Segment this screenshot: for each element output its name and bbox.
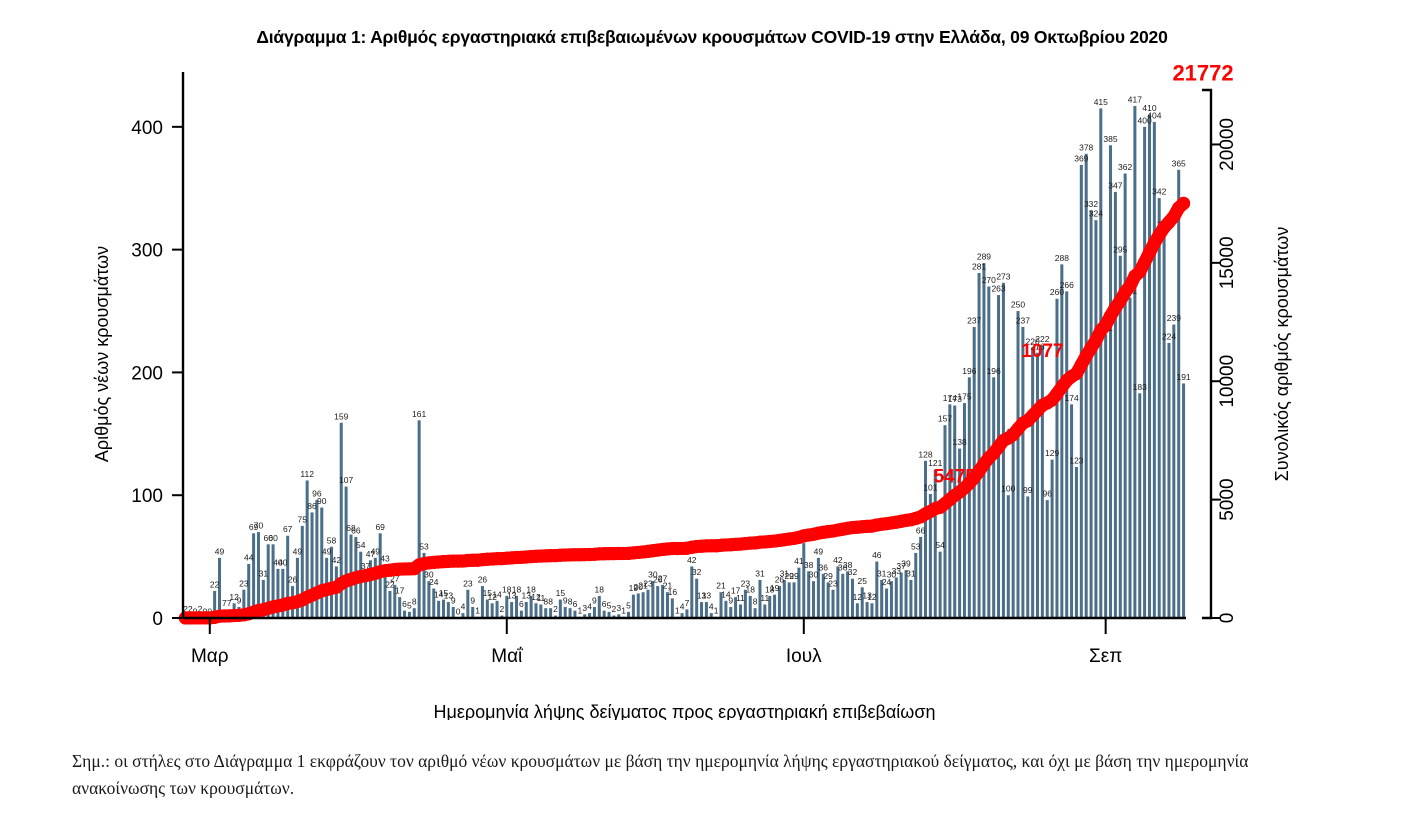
bar-label: 138 bbox=[952, 437, 966, 447]
bar bbox=[836, 566, 839, 618]
bar-label: 8 bbox=[412, 597, 417, 607]
bar-label: 9 bbox=[470, 595, 475, 605]
y-tick-label: 100 bbox=[131, 486, 163, 507]
bar bbox=[1060, 264, 1063, 618]
bar bbox=[1124, 174, 1127, 619]
bar-label: 5 bbox=[626, 600, 631, 610]
bar-label: 23 bbox=[239, 578, 249, 588]
bar-label: 49 bbox=[293, 546, 303, 556]
chart-container: 2202002249771292344697031606040406726497… bbox=[0, 60, 1424, 720]
bar bbox=[1012, 439, 1015, 618]
bar-label: 13 bbox=[702, 591, 712, 601]
bar bbox=[1065, 291, 1068, 618]
x-tick-label: Ιουλ bbox=[786, 646, 822, 667]
bar bbox=[1148, 115, 1151, 618]
bar-label: 9 bbox=[592, 595, 597, 605]
bar-label: 8 bbox=[753, 597, 758, 607]
bar bbox=[496, 601, 499, 618]
bar bbox=[783, 580, 786, 618]
bar-label: 12 bbox=[867, 592, 877, 602]
bar-label: 332 bbox=[1084, 199, 1098, 209]
bar-label: 415 bbox=[1094, 97, 1108, 107]
bar bbox=[812, 581, 815, 618]
bar-label: 18 bbox=[745, 584, 755, 594]
bar bbox=[885, 589, 888, 618]
bar bbox=[1114, 192, 1117, 618]
bar-label: 404 bbox=[1147, 110, 1161, 120]
bar bbox=[442, 600, 445, 618]
bar bbox=[1158, 198, 1161, 618]
footnote-line-1: Σημ.: οι στήλες στο Διάγραμμα 1 εκφράζου… bbox=[72, 751, 1070, 771]
bar-label: 42 bbox=[687, 555, 697, 565]
bar-label: 22 bbox=[210, 579, 220, 589]
bar-label: 99 bbox=[1023, 485, 1033, 495]
bar-label: 385 bbox=[1103, 134, 1117, 144]
bar bbox=[846, 571, 849, 618]
bar-label: 49 bbox=[371, 546, 381, 556]
bar bbox=[539, 604, 542, 618]
bar-label: 86 bbox=[307, 501, 317, 511]
bar bbox=[525, 602, 528, 618]
bar bbox=[671, 598, 674, 618]
bar-label: 32 bbox=[848, 567, 858, 577]
bar bbox=[982, 263, 985, 618]
bar bbox=[1080, 165, 1083, 618]
bar bbox=[870, 603, 873, 618]
bar bbox=[831, 590, 834, 618]
bar-label: 18 bbox=[595, 584, 605, 594]
bar-label: 112 bbox=[300, 469, 314, 479]
bar bbox=[1090, 210, 1093, 618]
bar bbox=[593, 607, 596, 618]
y-tick-label: 300 bbox=[131, 241, 163, 262]
bar bbox=[345, 487, 348, 618]
bar-label: 281 bbox=[972, 261, 986, 271]
bar bbox=[773, 595, 776, 618]
bar bbox=[788, 582, 791, 618]
bar bbox=[1075, 467, 1078, 618]
bar bbox=[749, 596, 752, 618]
bar bbox=[1007, 495, 1010, 618]
bar bbox=[452, 607, 455, 618]
bar-label: 66 bbox=[916, 525, 926, 535]
bar-label: 26 bbox=[478, 575, 488, 585]
bar bbox=[1051, 460, 1054, 618]
cumulative-annotation: 21772 bbox=[1172, 61, 1233, 86]
bar bbox=[739, 604, 742, 618]
page-title: Διάγραμμα 1: Αριθμός εργαστηριακά επιβεβ… bbox=[0, 27, 1424, 48]
y2-tick-label: 15000 bbox=[1217, 236, 1238, 289]
bar-label: 26 bbox=[288, 575, 298, 585]
bar bbox=[569, 608, 572, 618]
bar-label: 44 bbox=[244, 552, 254, 562]
bar-label: 2 bbox=[500, 604, 505, 614]
bar bbox=[1172, 325, 1175, 618]
bar-label: 60 bbox=[268, 533, 278, 543]
bar-label: 362 bbox=[1118, 162, 1132, 172]
y2-axis-line bbox=[1202, 90, 1211, 618]
bar-label: 75 bbox=[298, 514, 308, 524]
bar bbox=[963, 403, 966, 618]
bar-label: 2 bbox=[553, 604, 558, 614]
x-tick-label: Μαρ bbox=[191, 646, 229, 667]
bar-label: 31 bbox=[755, 568, 765, 578]
bar-label: 39 bbox=[901, 559, 911, 569]
bar-label: 12 bbox=[853, 592, 863, 602]
bar-label: 288 bbox=[1055, 253, 1069, 263]
bar bbox=[1026, 496, 1029, 618]
bar bbox=[685, 609, 688, 618]
bar bbox=[466, 590, 469, 618]
bar-label: 23 bbox=[463, 578, 473, 588]
bar-label: 263 bbox=[991, 284, 1005, 294]
bar-label: 347 bbox=[1108, 180, 1122, 190]
bar-label: 100 bbox=[1001, 484, 1015, 494]
bar-label: 49 bbox=[215, 546, 225, 556]
bar bbox=[1133, 106, 1136, 618]
bar bbox=[1109, 145, 1112, 618]
bar-label: 183 bbox=[1133, 382, 1147, 392]
bar-label: 123 bbox=[1069, 455, 1083, 465]
bar bbox=[992, 377, 995, 618]
bar-label: 53 bbox=[911, 541, 921, 551]
bar-label: 239 bbox=[1167, 313, 1181, 323]
bar-label: 191 bbox=[1176, 372, 1190, 382]
bar bbox=[534, 603, 537, 618]
bar-label: 342 bbox=[1152, 187, 1166, 197]
bar bbox=[1017, 311, 1020, 618]
bar-label: 157 bbox=[938, 414, 952, 424]
cumulative-annotation: 1077 bbox=[1021, 341, 1063, 362]
bar-label: 31 bbox=[906, 568, 916, 578]
bar-label: 174 bbox=[1064, 393, 1078, 403]
bar bbox=[939, 552, 942, 618]
bar-label: 31 bbox=[259, 568, 269, 578]
y-tick-label: 400 bbox=[131, 118, 163, 139]
bar bbox=[486, 600, 489, 618]
bar bbox=[705, 602, 708, 618]
bar bbox=[1104, 334, 1107, 618]
bar-label: 417 bbox=[1128, 94, 1142, 104]
bar bbox=[1070, 404, 1073, 618]
bar bbox=[1046, 500, 1049, 618]
cumulative-annotation: 5475 bbox=[934, 466, 977, 487]
bar bbox=[549, 608, 552, 618]
bar-label: 159 bbox=[334, 411, 348, 421]
bar-label: 23 bbox=[828, 578, 838, 588]
bar-label: 40 bbox=[278, 557, 288, 567]
bar-label: 4 bbox=[461, 602, 466, 612]
bar-label: 69 bbox=[375, 522, 385, 532]
bar bbox=[1129, 298, 1132, 618]
bar bbox=[447, 602, 450, 618]
bar-label: 25 bbox=[857, 576, 867, 586]
x-tick-label: Μαΐ bbox=[491, 646, 524, 667]
bar-label: 58 bbox=[327, 535, 337, 545]
bar-label: 224 bbox=[1162, 331, 1176, 341]
line-marker bbox=[1177, 197, 1190, 210]
bar-label: 11 bbox=[736, 593, 745, 603]
bar-label: 266 bbox=[1060, 280, 1074, 290]
bar bbox=[948, 404, 951, 618]
bar bbox=[296, 558, 299, 618]
y-tick-label: 200 bbox=[131, 363, 163, 384]
bar-label: 29 bbox=[789, 571, 799, 581]
bar-label: 9 bbox=[237, 595, 242, 605]
covid-cases-chart: 2202002249771292344697031606040406726497… bbox=[0, 60, 1424, 720]
bar-label: 16 bbox=[668, 587, 678, 597]
bar bbox=[388, 591, 391, 618]
y2-axis-title: Συνολικός αριθμός κρουσμάτων bbox=[1272, 227, 1292, 482]
bar bbox=[700, 602, 703, 618]
bar bbox=[559, 600, 562, 618]
bar bbox=[841, 574, 844, 618]
bar-label: 42 bbox=[332, 555, 342, 565]
bar bbox=[900, 573, 903, 618]
bar bbox=[763, 604, 766, 618]
bar-label: 14 bbox=[492, 589, 502, 599]
y2-tick-label: 10000 bbox=[1217, 355, 1238, 408]
bar-label: 196 bbox=[987, 366, 1001, 376]
bar-label: 7 bbox=[685, 598, 690, 608]
bar-label: 67 bbox=[283, 524, 293, 534]
y2-tick-label: 0 bbox=[1217, 613, 1238, 624]
bar bbox=[544, 608, 547, 618]
bar bbox=[646, 590, 649, 618]
y-tick-label: 0 bbox=[152, 609, 163, 630]
bar bbox=[943, 425, 946, 618]
bar-label: 196 bbox=[962, 366, 976, 376]
bar-label: 175 bbox=[957, 392, 971, 402]
bar bbox=[856, 603, 859, 618]
bar-label: 96 bbox=[1043, 489, 1053, 499]
bar bbox=[510, 602, 513, 618]
bar-label: 324 bbox=[1089, 209, 1103, 219]
bar-label: 273 bbox=[996, 271, 1010, 281]
bar bbox=[793, 582, 796, 618]
y2-tick-label: 20000 bbox=[1217, 118, 1238, 171]
bar bbox=[1143, 127, 1146, 618]
bar-label: 1 bbox=[714, 605, 719, 615]
bar bbox=[1094, 220, 1097, 618]
bar bbox=[1163, 231, 1166, 618]
bar-label: 6 bbox=[519, 599, 524, 609]
bar-label: 9 bbox=[728, 595, 733, 605]
bar-label: 49 bbox=[814, 546, 824, 556]
bar-label: 9 bbox=[451, 595, 456, 605]
bar bbox=[642, 592, 645, 618]
bar bbox=[1099, 108, 1102, 618]
bar bbox=[413, 608, 416, 618]
bar-label: 49 bbox=[322, 546, 332, 556]
bar-label: 365 bbox=[1172, 158, 1186, 168]
bar-label: 237 bbox=[967, 315, 981, 325]
bar bbox=[1031, 348, 1034, 618]
bar bbox=[724, 601, 727, 618]
bar-label: 107 bbox=[339, 475, 353, 485]
bar-label: 250 bbox=[1011, 300, 1025, 310]
bar bbox=[729, 607, 732, 618]
bar bbox=[754, 608, 757, 618]
bar-label: 46 bbox=[872, 550, 882, 560]
bar-label: 369 bbox=[1074, 153, 1088, 163]
bar-label: 32 bbox=[692, 567, 702, 577]
bar-label: 11 bbox=[760, 593, 769, 603]
bar-label: 90 bbox=[317, 496, 327, 506]
footnote: Σημ.: οι στήλες στο Διάγραμμα 1 εκφράζου… bbox=[72, 748, 1342, 802]
bar bbox=[1177, 170, 1180, 618]
bar-label: 54 bbox=[356, 540, 366, 550]
bar bbox=[1138, 393, 1141, 618]
bar bbox=[1167, 343, 1170, 618]
bar bbox=[1021, 327, 1024, 618]
y2-tick-label: 5000 bbox=[1217, 478, 1238, 520]
bar-label: 17 bbox=[395, 586, 405, 596]
bar-label: 1 bbox=[475, 605, 480, 615]
bar bbox=[437, 601, 440, 618]
bar bbox=[895, 577, 898, 618]
bar-label: 70 bbox=[254, 521, 264, 531]
bar bbox=[637, 593, 640, 618]
bar-label: 19 bbox=[770, 583, 780, 593]
bar-label: 43 bbox=[380, 554, 390, 564]
bar-label: 54 bbox=[935, 540, 945, 550]
bar bbox=[632, 595, 635, 618]
bar-label: 30 bbox=[809, 570, 819, 580]
bar-label: 24 bbox=[429, 577, 439, 587]
bar bbox=[1182, 383, 1185, 618]
bar bbox=[598, 596, 601, 618]
bar-label: 237 bbox=[1016, 315, 1030, 325]
bar bbox=[471, 607, 474, 618]
bar bbox=[320, 507, 323, 618]
bar bbox=[914, 553, 917, 618]
bar bbox=[802, 543, 805, 618]
bar bbox=[398, 597, 401, 618]
x-tick-label: Σεπ bbox=[1089, 646, 1122, 667]
bar bbox=[418, 420, 421, 618]
bar-label: 161 bbox=[412, 409, 426, 419]
bar-label: 41 bbox=[794, 556, 804, 566]
bar bbox=[564, 607, 567, 618]
bar-label: 23 bbox=[643, 578, 653, 588]
bar bbox=[1036, 353, 1039, 618]
bar bbox=[1041, 345, 1044, 618]
bar bbox=[968, 377, 971, 618]
bar-label: 18 bbox=[512, 584, 522, 594]
bar-label: 38 bbox=[804, 560, 814, 570]
bar bbox=[909, 580, 912, 618]
bar bbox=[491, 603, 494, 618]
bar-label: 289 bbox=[977, 252, 991, 262]
bar-label: 129 bbox=[1045, 448, 1059, 458]
y-axis-title: Αριθμός νέων κρουσμάτων bbox=[92, 246, 112, 462]
bar-label: 53 bbox=[419, 541, 429, 551]
x-axis-title: Ημερομηνία λήψης δείγματος προς εργαστηρ… bbox=[434, 702, 936, 720]
bar bbox=[866, 602, 869, 618]
bar bbox=[1085, 154, 1088, 618]
bar-label: 66 bbox=[351, 525, 361, 535]
bar bbox=[656, 586, 659, 618]
bar-label: 378 bbox=[1079, 142, 1093, 152]
bar-label: 295 bbox=[1113, 244, 1127, 254]
